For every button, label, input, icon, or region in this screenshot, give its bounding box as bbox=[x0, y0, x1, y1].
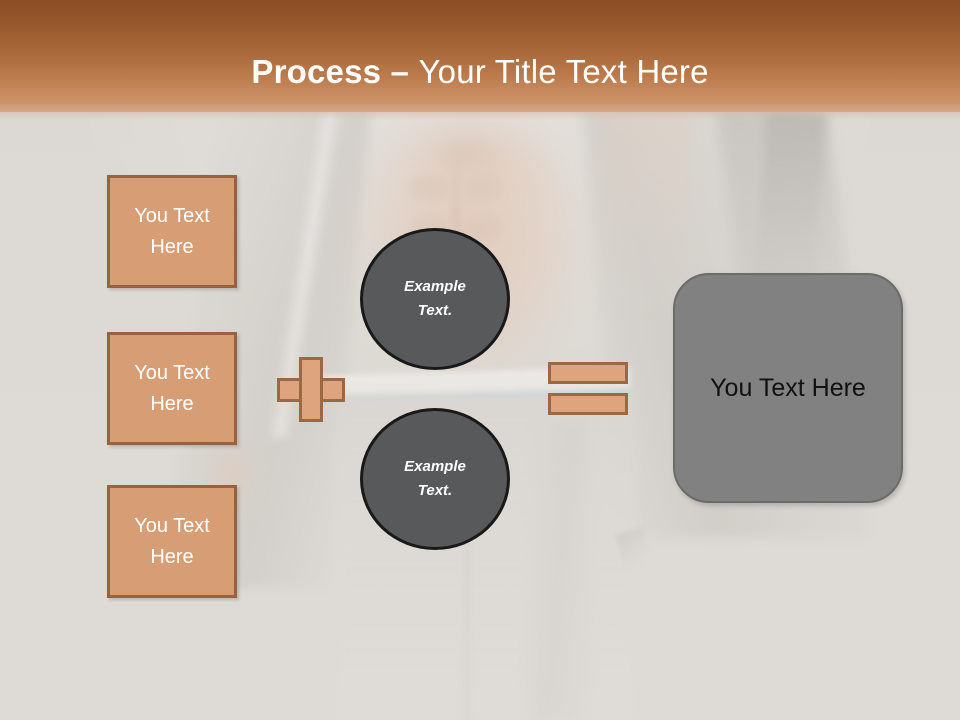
page-title: Process – Your Title Text Here bbox=[0, 52, 960, 92]
equals-icon-top-bar bbox=[548, 362, 628, 384]
input-box-1[interactable]: You Text Here bbox=[107, 175, 237, 288]
example-circle-1[interactable]: Example Text. bbox=[360, 228, 510, 370]
result-box-label: You Text Here bbox=[710, 374, 866, 403]
input-box-1-line2: Here bbox=[150, 232, 193, 263]
input-box-1-line1: You Text bbox=[134, 201, 210, 232]
plus-icon bbox=[277, 357, 345, 422]
example-circle-2[interactable]: Example Text. bbox=[360, 408, 510, 550]
input-box-2[interactable]: You Text Here bbox=[107, 332, 237, 445]
result-box[interactable]: You Text Here bbox=[673, 273, 903, 503]
equals-icon-bottom-bar bbox=[548, 393, 628, 415]
example-circle-1-line2: Text. bbox=[418, 299, 452, 323]
example-circle-2-line1: Example bbox=[404, 455, 466, 479]
example-circle-1-line1: Example bbox=[404, 275, 466, 299]
equals-icon bbox=[548, 362, 628, 415]
input-box-2-line2: Here bbox=[150, 389, 193, 420]
page-title-rest: Your Title Text Here bbox=[418, 53, 708, 90]
page-title-dash: – bbox=[381, 53, 418, 90]
presentation-slide: Process – Your Title Text Here You Text … bbox=[0, 0, 960, 720]
input-box-3-line1: You Text bbox=[134, 511, 210, 542]
input-box-3-line2: Here bbox=[150, 542, 193, 573]
page-title-emphasis: Process bbox=[251, 53, 381, 90]
input-box-3[interactable]: You Text Here bbox=[107, 485, 237, 598]
example-circle-2-line2: Text. bbox=[418, 479, 452, 503]
title-banner-fade bbox=[0, 104, 960, 120]
plus-icon-center bbox=[302, 381, 320, 399]
input-box-2-line1: You Text bbox=[134, 358, 210, 389]
